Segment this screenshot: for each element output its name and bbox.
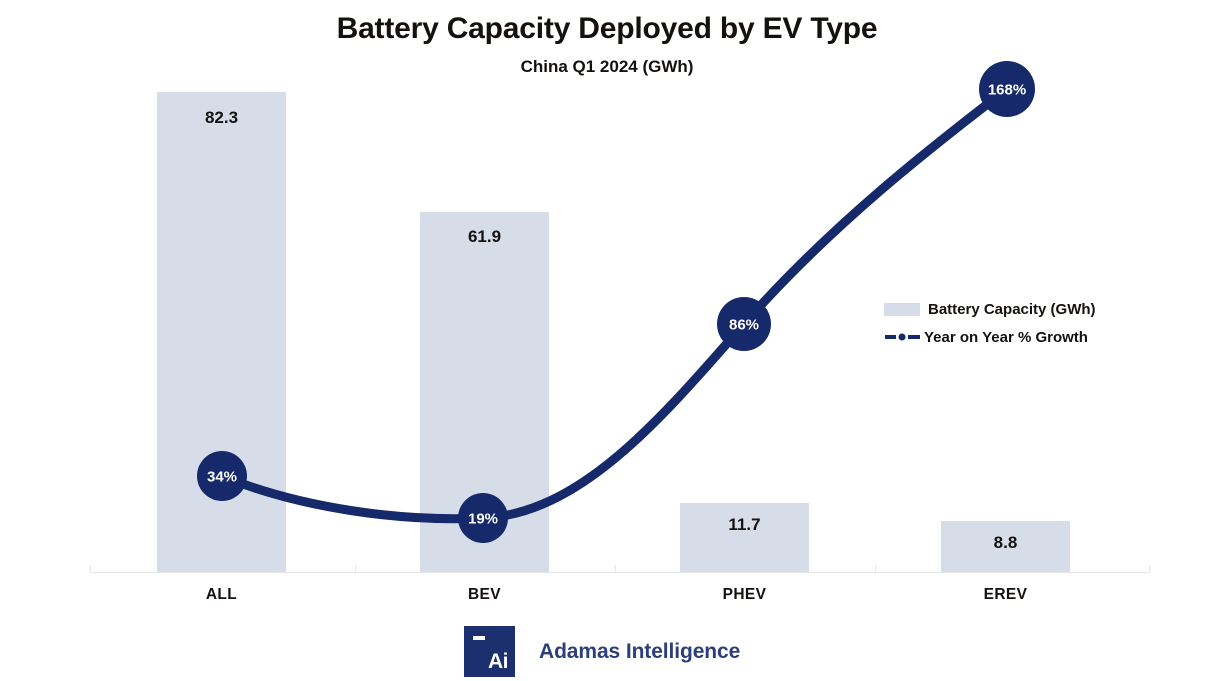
axis-tick — [1149, 565, 1150, 573]
x-axis-line — [90, 572, 1150, 573]
growth-marker-label: 168% — [988, 82, 1026, 99]
bar-value-label: 8.8 — [941, 533, 1070, 553]
bar-value-label: 82.3 — [157, 108, 286, 128]
x-axis-label-erev: EREV — [941, 586, 1070, 604]
growth-marker-label: 19% — [468, 511, 498, 528]
legend-item-label: Battery Capacity (GWh) — [928, 301, 1096, 318]
growth-marker-label: 34% — [207, 469, 237, 486]
logo-monogram: Ai — [488, 650, 508, 674]
bar-value-label: 11.7 — [680, 515, 809, 535]
x-axis-label-phev: PHEV — [680, 586, 809, 604]
legend-item-yoy-growth[interactable]: Year on Year % Growth — [884, 323, 1114, 351]
legend-item-label: Year on Year % Growth — [924, 329, 1088, 346]
chart-page: Battery Capacity Deployed by EV Type Chi… — [0, 0, 1214, 681]
growth-marker-label: 86% — [729, 317, 759, 334]
bar-value-label: 61.9 — [420, 227, 549, 247]
bar-swatch-icon — [884, 303, 920, 316]
dash-dot-line-swatch-icon — [884, 330, 920, 344]
axis-tick — [875, 565, 876, 573]
x-axis-label-bev: BEV — [420, 586, 549, 604]
adamas-logo-icon: Ai — [464, 626, 515, 677]
brand-name: Adamas Intelligence — [539, 640, 740, 664]
legend: Battery Capacity (GWh) Year on Year % Gr… — [884, 295, 1114, 351]
axis-tick — [90, 565, 91, 573]
legend-item-battery-capacity[interactable]: Battery Capacity (GWh) — [884, 295, 1114, 323]
logo-dash-icon — [473, 636, 485, 640]
axis-tick — [615, 565, 616, 573]
brand-footer: Ai Adamas Intelligence — [464, 626, 740, 677]
bar-phev — [680, 503, 809, 572]
bar-all — [157, 92, 286, 572]
x-axis-label-all: ALL — [157, 586, 286, 604]
axis-tick — [355, 565, 356, 573]
